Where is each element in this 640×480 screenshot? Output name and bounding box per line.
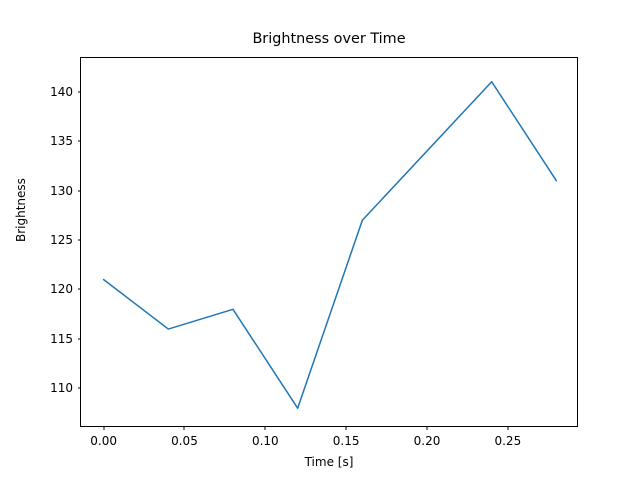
y-axis-tick-label: 120 [50,282,81,296]
y-axis-label: Brightness [14,178,28,242]
y-axis-tick-label: 115 [50,332,81,346]
x-axis-tick-mark [507,426,508,430]
y-axis-tick-mark [78,338,82,339]
figure-canvas: Brightness over Time 1101151201251301351… [0,0,640,480]
plot-area: 1101151201251301351400.000.050.100.150.2… [80,57,578,427]
y-axis-tick-label: 110 [50,381,81,395]
y-axis-tick-label: 135 [50,134,81,148]
page-title: Brightness over Time [80,30,578,48]
y-axis-tick-label: 130 [50,184,81,198]
y-axis-tick-mark [78,388,82,389]
x-axis-tick-mark [427,426,428,430]
y-axis-tick-mark [78,190,82,191]
y-axis-tick-mark [78,289,82,290]
y-axis-tick-mark [78,240,82,241]
x-axis-label: Time [s] [80,455,578,469]
x-axis-tick-mark [346,426,347,430]
line-series-brightness [81,58,579,428]
x-axis-tick-mark [184,426,185,430]
x-axis-tick-mark [265,426,266,430]
y-axis-tick-label: 125 [50,233,81,247]
y-axis-tick-mark [78,141,82,142]
y-axis-tick-mark [78,91,82,92]
x-axis-tick-mark [103,426,104,430]
y-axis-tick-label: 140 [50,85,81,99]
